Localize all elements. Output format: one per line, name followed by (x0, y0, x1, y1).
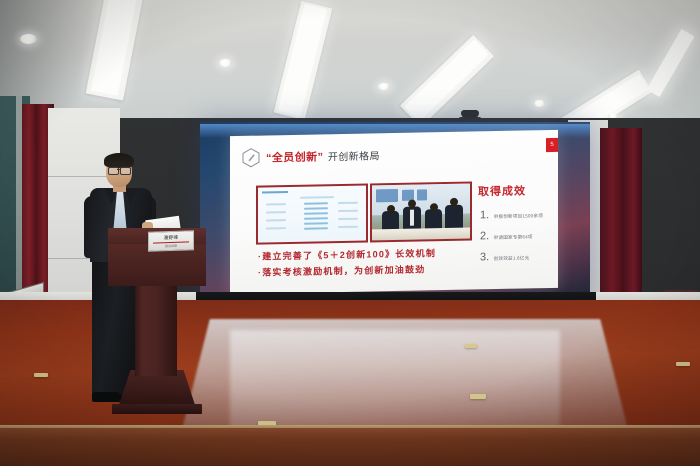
doc-line (304, 222, 328, 224)
slide-page-badge: 5 (546, 138, 558, 152)
speaker-shoe (92, 392, 122, 402)
achievement-number: 2. (480, 230, 489, 242)
doc-line (266, 211, 286, 213)
podium-floor-plate (112, 404, 202, 414)
doc-line (338, 202, 358, 204)
slide-bullet-1: ·建立完善了《5＋2创新100》长效机制 (258, 246, 436, 262)
photo-poster (376, 189, 398, 202)
photo-poster (417, 189, 427, 200)
conference-presentation-photo: “全员创新” 开创新格局 5 (0, 0, 700, 466)
doc-line (304, 212, 328, 214)
floor-marker-tape (465, 344, 477, 348)
doc-line (338, 210, 358, 212)
podium-column (135, 284, 177, 376)
slide-title-quoted: “全员创新” (266, 151, 323, 164)
doc-line (266, 219, 286, 221)
speaker-glasses-right-lens (120, 167, 131, 175)
doc-line (266, 203, 286, 205)
achievement-number: 1. (480, 209, 489, 221)
slide-image-meeting-photo (370, 182, 472, 243)
achievement-text: 创效效益1.6亿元 (494, 255, 530, 261)
slide-achievement-item: 2. 申请国家专刱64项 (480, 225, 533, 244)
camera-body (461, 110, 479, 118)
photo-table (372, 228, 470, 241)
doc-line (266, 227, 286, 229)
floor-marker-tape (34, 373, 48, 377)
slide-image-document-table (256, 183, 368, 244)
ceiling-downlight-3 (378, 83, 390, 90)
ceiling-downlight-4 (534, 100, 545, 107)
achievement-number: 3. (480, 251, 489, 263)
slide-bullet-2: ·落实考核激励机制，为创新加油鼓劲 (258, 262, 425, 278)
slide-achievements-heading: 取得成效 (478, 182, 526, 199)
floor-screen-reflection-inner (230, 330, 560, 435)
doc-header-line (262, 191, 288, 193)
floor-marker-tape (676, 362, 690, 366)
podium-nameplate: 潘野峰 副总经理 (148, 230, 194, 252)
doc-line (300, 196, 334, 199)
photo-person-shirt (410, 210, 414, 226)
slide-title-rest: 开创新格局 (328, 151, 380, 163)
achievement-text: 申报创新项目1500余项 (494, 213, 543, 219)
speaker-glasses-bridge (117, 169, 120, 170)
slide-achievement-item: 3. 创效效益1.6亿元 (480, 246, 529, 265)
nameplate-title-text: 副总经理 (149, 243, 193, 249)
stage-front-face (0, 428, 700, 466)
slide-achievement-item: 1. 申报创新项目1500余项 (480, 204, 543, 223)
doc-line (338, 226, 358, 228)
doc-line (304, 217, 328, 219)
doc-line (338, 218, 358, 220)
pen-hexagon-icon (242, 148, 260, 168)
ceiling-downlight-2 (219, 59, 232, 67)
doc-line (304, 202, 328, 204)
doc-line (304, 207, 328, 209)
floor-marker-tape (470, 394, 486, 399)
doc-line (304, 227, 328, 229)
presentation-slide: “全员创新” 开创新格局 5 (230, 130, 558, 294)
ceiling-downlight-1 (20, 34, 37, 44)
slide-title: “全员创新” 开创新格局 (266, 146, 380, 166)
achievement-text: 申请国家专刱64项 (494, 234, 533, 240)
speaker-hair (104, 153, 134, 168)
